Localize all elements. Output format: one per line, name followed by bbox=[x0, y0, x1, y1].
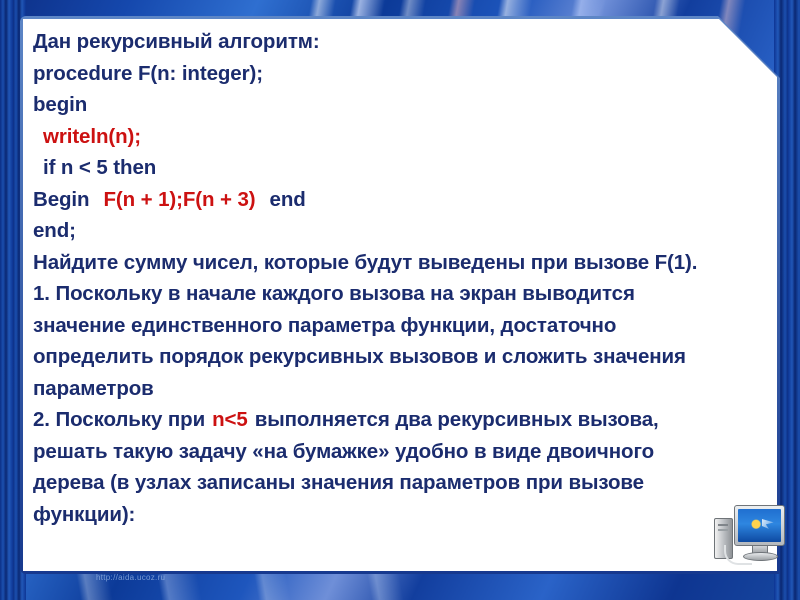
text-line-8: Найдите сумму чисел, которые будут вывед… bbox=[33, 247, 778, 279]
text-line-5: if n < 5 then bbox=[33, 152, 778, 184]
line-13-text-condition: n<5 bbox=[212, 408, 248, 431]
text-line-1: Дан рекурсивный алгоритм: bbox=[33, 26, 778, 58]
slide-body-text: Дан рекурсивный алгоритм: procedure F(n:… bbox=[33, 26, 778, 530]
slide: Дан рекурсивный алгоритм: procedure F(n:… bbox=[0, 0, 800, 600]
line-3-text: begin bbox=[33, 93, 87, 116]
line-13-text-suffix: выполняется два рекурсивных вызова, bbox=[255, 408, 659, 431]
text-line-10: значение единственного параметра функции… bbox=[33, 310, 778, 342]
line-6-text-end: end bbox=[270, 188, 306, 211]
line-10-text: значение единственного параметра функции… bbox=[33, 314, 616, 337]
line-6-text-calls: F(n + 1);F(n + 3) bbox=[103, 188, 255, 211]
text-line-15: дерева (в узлах записаны значения параме… bbox=[33, 467, 778, 499]
line-7-text: end; bbox=[33, 219, 76, 242]
watermark: http://aida.ucoz.ru bbox=[96, 573, 165, 582]
line-6-text-begin: Begin bbox=[33, 188, 89, 211]
text-line-6: BeginF(n + 1);F(n + 3)end bbox=[33, 184, 778, 216]
text-line-14: решать такую задачу «на бумажке» удобно … bbox=[33, 436, 778, 468]
line-2-text: procedure F(n: integer); bbox=[33, 62, 263, 85]
line-1-text: Дан рекурсивный алгоритм: bbox=[33, 30, 320, 53]
monitor-base-icon bbox=[743, 552, 778, 561]
desktop-computer-icon bbox=[714, 505, 788, 567]
line-5-text-if: if n < 5 then bbox=[43, 156, 156, 179]
line-9-text: 1. Поскольку в начале каждого вызова на … bbox=[33, 282, 635, 305]
computer-monitor-icon bbox=[734, 505, 785, 546]
text-line-3: begin bbox=[33, 89, 778, 121]
line-12-text: параметров bbox=[33, 377, 154, 400]
text-line-16: функции): bbox=[33, 499, 778, 531]
line-15-text: дерева (в узлах записаны значения параме… bbox=[33, 471, 644, 494]
text-line-12: параметров bbox=[33, 373, 778, 405]
text-line-11: определить порядок рекурсивных вызовов и… bbox=[33, 341, 778, 373]
line-8-text: Найдите сумму чисел, которые будут вывед… bbox=[33, 251, 697, 274]
text-line-9: 1. Поскольку в начале каждого вызова на … bbox=[33, 278, 778, 310]
text-line-2: procedure F(n: integer); bbox=[33, 58, 778, 90]
monitor-screen-icon bbox=[738, 509, 781, 542]
text-line-13: 2. Поскольку приn<5выполняется два рекур… bbox=[33, 404, 778, 436]
line-14-text: решать такую задачу «на бумажке» удобно … bbox=[33, 440, 654, 463]
line-13-text-prefix: 2. Поскольку при bbox=[33, 408, 205, 431]
line-4-text-writeln: writeln(n); bbox=[43, 125, 141, 148]
line-16-text: функции): bbox=[33, 503, 135, 526]
line-11-text: определить порядок рекурсивных вызовов и… bbox=[33, 345, 686, 368]
text-line-7: end; bbox=[33, 215, 778, 247]
text-line-4: writeln(n); bbox=[33, 121, 778, 153]
